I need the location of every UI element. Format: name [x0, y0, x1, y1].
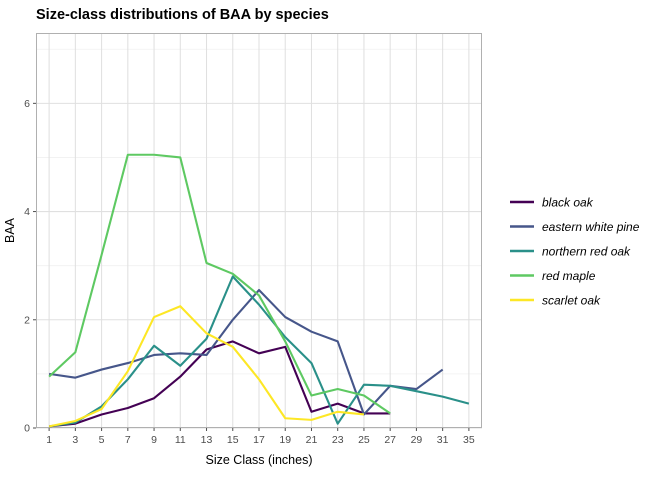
legend-label-black-oak: black oak — [542, 195, 594, 209]
x-tick-label: 11 — [175, 434, 186, 446]
x-tick-label: 5 — [99, 434, 105, 446]
x-tick-label: 9 — [151, 434, 157, 446]
x-tick-label: 15 — [227, 434, 239, 446]
y-tick-label: 6 — [24, 98, 30, 110]
y-axis: 0246 — [24, 98, 36, 435]
x-axis-title: Size Class (inches) — [206, 453, 313, 467]
x-tick-label: 19 — [279, 434, 291, 446]
x-axis: 13579111315171921232527293135 — [46, 428, 475, 446]
x-tick-label: 27 — [384, 434, 396, 446]
y-tick-label: 4 — [24, 206, 30, 218]
legend-label-scarlet-oak: scarlet oak — [542, 293, 601, 307]
y-tick-label: 2 — [24, 314, 30, 326]
x-tick-label: 13 — [201, 434, 213, 446]
legend-label-eastern-white-pine: eastern white pine — [542, 220, 640, 234]
chart-container: Size-class distributions of BAA by speci… — [0, 0, 672, 480]
x-tick-label: 3 — [72, 434, 78, 446]
y-axis-title: BAA — [3, 217, 17, 243]
line-chart: Size-class distributions of BAA by speci… — [0, 0, 672, 480]
x-tick-label: 17 — [253, 434, 265, 446]
x-tick-label: 31 — [437, 434, 449, 446]
x-tick-label: 25 — [358, 434, 370, 446]
x-tick-label: 23 — [332, 434, 344, 446]
y-tick-label: 0 — [24, 423, 30, 435]
x-tick-label: 35 — [463, 434, 475, 446]
legend-label-red-maple: red maple — [542, 269, 596, 283]
x-tick-label: 7 — [125, 434, 131, 446]
x-tick-label: 21 — [306, 434, 318, 446]
legend-label-northern-red-oak: northern red oak — [542, 244, 631, 258]
chart-title: Size-class distributions of BAA by speci… — [36, 7, 329, 23]
x-tick-label: 29 — [411, 434, 423, 446]
x-tick-label: 1 — [46, 434, 52, 446]
legend: black oakeastern white pinenorthern red … — [510, 195, 640, 307]
